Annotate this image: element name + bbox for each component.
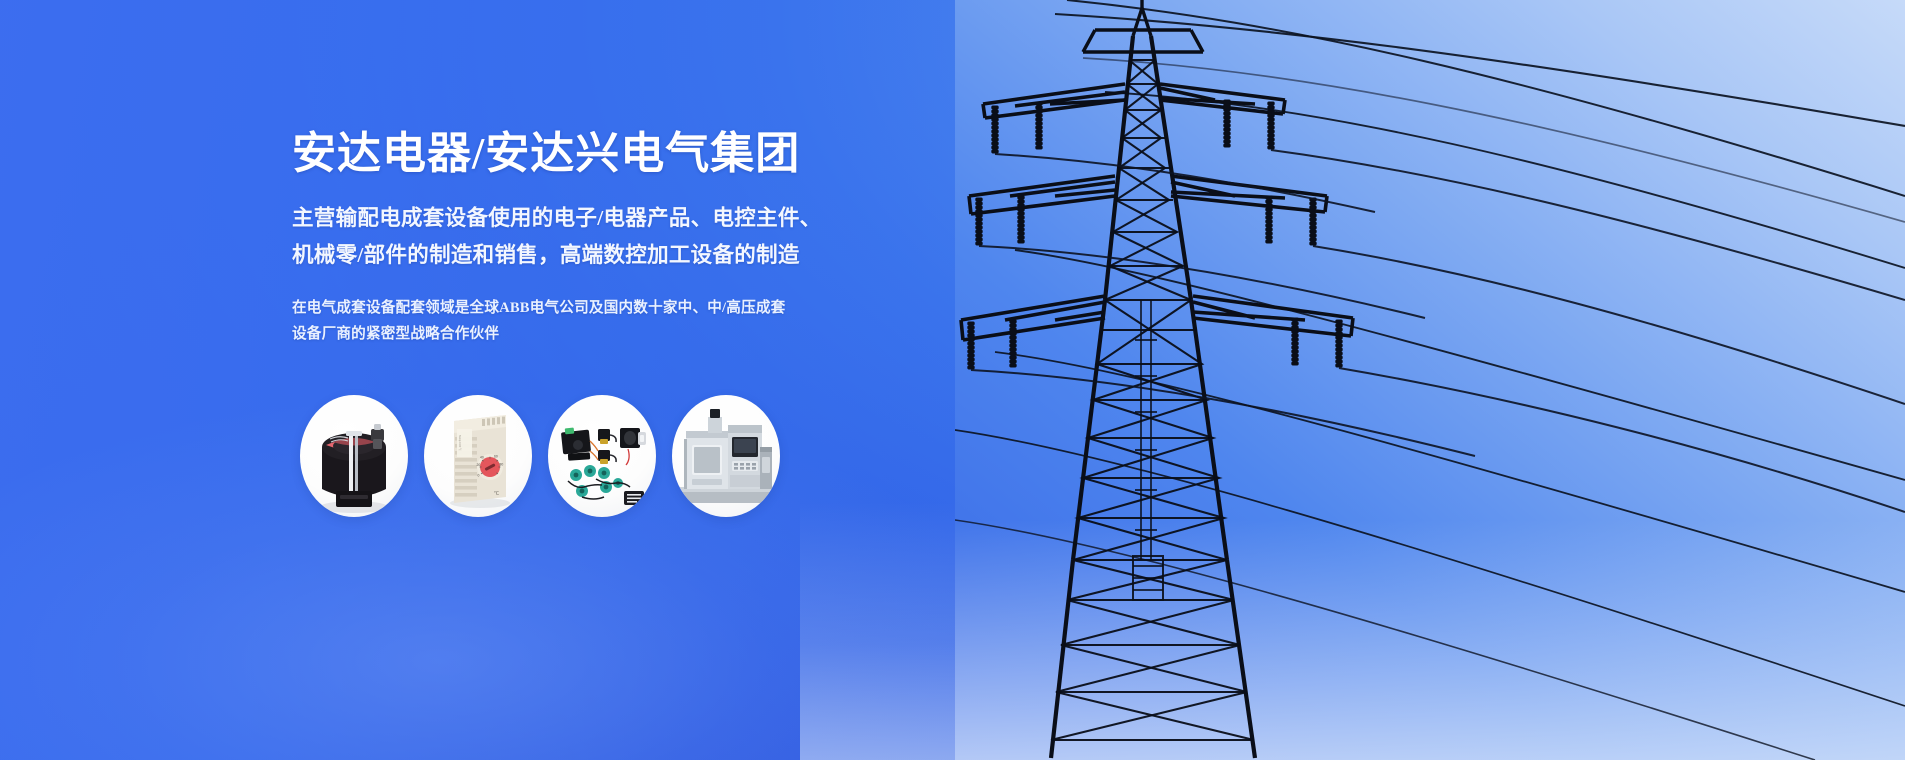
svg-text:20: 20 — [477, 463, 481, 467]
description-line-2: 设备厂商的紧密型战略合作伙伴 — [292, 322, 932, 348]
cabinet-thermostat-image: Temp 0-60 ℃ 020 406080 ℃ — [424, 395, 532, 517]
electronic-control-components-image — [548, 395, 656, 517]
banner-text-block: 安达电器/安达兴电气集团 主营输配电成套设备使用的电子/电器产品、电控主件、 机… — [292, 128, 932, 348]
svg-text:0: 0 — [478, 474, 480, 478]
svg-text:℃: ℃ — [494, 491, 499, 497]
description-line-1: 在电气成套设备配套领域是全球ABB电气公司及国内数十家中、中/高压成套 — [292, 296, 932, 322]
banner-subheadline: 主营输配电成套设备使用的电子/电器产品、电控主件、 机械零/部件的制造和销售，高… — [292, 200, 932, 274]
banner-description: 在电气成套设备配套领域是全球ABB电气公司及国内数十家中、中/高压成套 设备厂商… — [292, 296, 932, 348]
product-thumbnail-row: Temp 0-60 ℃ 020 406080 ℃ — [300, 395, 780, 517]
hero-banner: 安达电器/安达兴电气集团 主营输配电成套设备使用的电子/电器产品、电控主件、 机… — [0, 0, 1905, 760]
product-thumbnail-split-core-current-transformer[interactable] — [300, 395, 408, 517]
svg-text:60: 60 — [494, 455, 498, 459]
power-transmission-tower-photo — [955, 0, 1905, 760]
product-thumbnail-cabinet-thermostat[interactable]: Temp 0-60 ℃ 020 406080 ℃ — [424, 395, 532, 517]
svg-text:80: 80 — [500, 463, 504, 467]
subheadline-line-2: 机械零/部件的制造和销售，高端数控加工设备的制造 — [292, 237, 932, 274]
page-title: 安达电器/安达兴电气集团 — [292, 128, 932, 180]
svg-text:Temp 0-60 ℃: Temp 0-60 ℃ — [458, 435, 462, 451]
split-core-current-transformer-image — [300, 395, 408, 517]
product-thumbnail-electronic-control-components[interactable] — [548, 395, 656, 517]
subheadline-line-1: 主营输配电成套设备使用的电子/电器产品、电控主件、 — [292, 200, 932, 237]
svg-text:40: 40 — [480, 456, 484, 460]
cnc-machining-center-image — [672, 395, 780, 517]
product-thumbnail-cnc-machining-center[interactable] — [672, 395, 780, 517]
